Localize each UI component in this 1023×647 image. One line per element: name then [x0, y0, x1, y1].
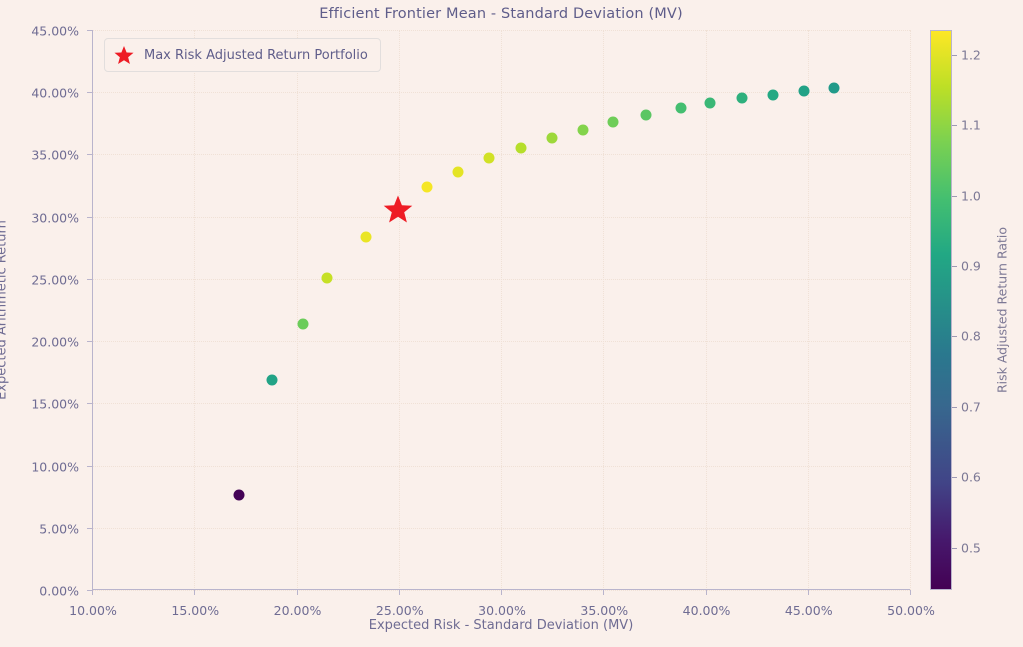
- x-tick: 10.00%: [92, 590, 93, 595]
- gridline-vertical: [808, 30, 809, 590]
- colorbar-tick: [952, 55, 957, 56]
- colorbar-tick: [952, 266, 957, 267]
- chart-title: Efficient Frontier Mean - Standard Devia…: [92, 6, 910, 22]
- scatter-point[interactable]: [675, 103, 686, 114]
- x-tick: 20.00%: [297, 590, 298, 595]
- scatter-point[interactable]: [608, 117, 619, 128]
- x-tick-label: 20.00%: [274, 603, 322, 618]
- colorbar-gradient: [930, 30, 952, 590]
- legend[interactable]: Max Risk Adjusted Return Portfolio: [104, 38, 381, 72]
- scatter-point[interactable]: [641, 109, 652, 120]
- scatter-point[interactable]: [234, 489, 245, 500]
- y-tick-label: 0.00%: [39, 584, 79, 599]
- colorbar-tick-label: 0.8: [961, 329, 981, 344]
- colorbar-tick-label: 0.7: [961, 399, 981, 414]
- x-tick: 15.00%: [194, 590, 195, 595]
- y-tick-label: 20.00%: [31, 335, 79, 350]
- gridline-vertical: [706, 30, 707, 590]
- chart-root: Efficient Frontier Mean - Standard Devia…: [0, 0, 1023, 647]
- colorbar-tick: [952, 196, 957, 197]
- y-tick-label: 45.00%: [31, 24, 79, 39]
- gridline-vertical: [603, 30, 604, 590]
- gridline-vertical: [399, 30, 400, 590]
- scatter-point[interactable]: [361, 232, 372, 243]
- colorbar-tick-label: 0.9: [961, 258, 981, 273]
- colorbar-tick-label: 0.5: [961, 540, 981, 555]
- x-tick-label: 25.00%: [376, 603, 424, 618]
- scatter-point[interactable]: [483, 153, 494, 164]
- scatter-point[interactable]: [767, 89, 778, 100]
- gridline-vertical: [910, 30, 911, 590]
- scatter-point[interactable]: [798, 85, 809, 96]
- y-tick-label: 30.00%: [31, 210, 79, 225]
- x-tick-label: 15.00%: [171, 603, 219, 618]
- x-tick-label: 10.00%: [69, 603, 117, 618]
- scatter-point[interactable]: [322, 272, 333, 283]
- colorbar[interactable]: 0.50.60.70.80.91.01.11.2: [930, 30, 952, 590]
- colorbar-tick: [952, 336, 957, 337]
- scatter-point[interactable]: [829, 83, 840, 94]
- scatter-point[interactable]: [547, 133, 558, 144]
- x-tick: 45.00%: [808, 590, 809, 595]
- plot-area: 0.00%5.00%10.00%15.00%20.00%25.00%30.00%…: [92, 30, 910, 590]
- colorbar-tick-label: 1.1: [961, 118, 981, 133]
- x-tick: 50.00%: [910, 590, 911, 595]
- y-tick-label: 25.00%: [31, 272, 79, 287]
- scatter-point[interactable]: [577, 125, 588, 136]
- y-tick-label: 15.00%: [31, 397, 79, 412]
- scatter-point[interactable]: [453, 166, 464, 177]
- x-tick-label: 50.00%: [887, 603, 935, 618]
- x-tick-label: 40.00%: [683, 603, 731, 618]
- y-axis-label: Expected Arithmetic Return: [0, 220, 10, 400]
- colorbar-tick-label: 1.2: [961, 47, 981, 62]
- colorbar-label: Risk Adjusted Return Ratio: [995, 227, 1010, 393]
- y-tick-label: 35.00%: [31, 148, 79, 163]
- y-tick-label: 5.00%: [39, 521, 79, 536]
- colorbar-tick: [952, 548, 957, 549]
- scatter-point[interactable]: [266, 374, 277, 385]
- y-tick-label: 10.00%: [31, 459, 79, 474]
- x-tick: 35.00%: [603, 590, 604, 595]
- x-tick-label: 30.00%: [478, 603, 526, 618]
- colorbar-tick-label: 1.0: [961, 188, 981, 203]
- scatter-point[interactable]: [422, 182, 433, 193]
- x-tick: 40.00%: [706, 590, 707, 595]
- colorbar-tick: [952, 125, 957, 126]
- star-icon: [114, 45, 134, 65]
- x-axis-label: Expected Risk - Standard Deviation (MV): [92, 618, 910, 633]
- x-tick: 30.00%: [501, 590, 502, 595]
- scatter-point[interactable]: [737, 93, 748, 104]
- colorbar-tick: [952, 477, 957, 478]
- y-axis-spine: [92, 30, 93, 590]
- scatter-point[interactable]: [297, 318, 308, 329]
- x-tick-label: 35.00%: [580, 603, 628, 618]
- y-tick-label: 40.00%: [31, 86, 79, 101]
- colorbar-tick-label: 0.6: [961, 470, 981, 485]
- scatter-point[interactable]: [516, 142, 527, 153]
- legend-label: Max Risk Adjusted Return Portfolio: [144, 48, 368, 63]
- x-tick-label: 45.00%: [785, 603, 833, 618]
- max-risk-adjusted-return-marker[interactable]: [383, 194, 413, 224]
- scatter-point[interactable]: [704, 98, 715, 109]
- gridline-vertical: [297, 30, 298, 590]
- gridline-vertical: [194, 30, 195, 590]
- x-tick: 25.00%: [399, 590, 400, 595]
- x-axis-spine: [92, 589, 910, 590]
- gridline-vertical: [501, 30, 502, 590]
- colorbar-tick: [952, 407, 957, 408]
